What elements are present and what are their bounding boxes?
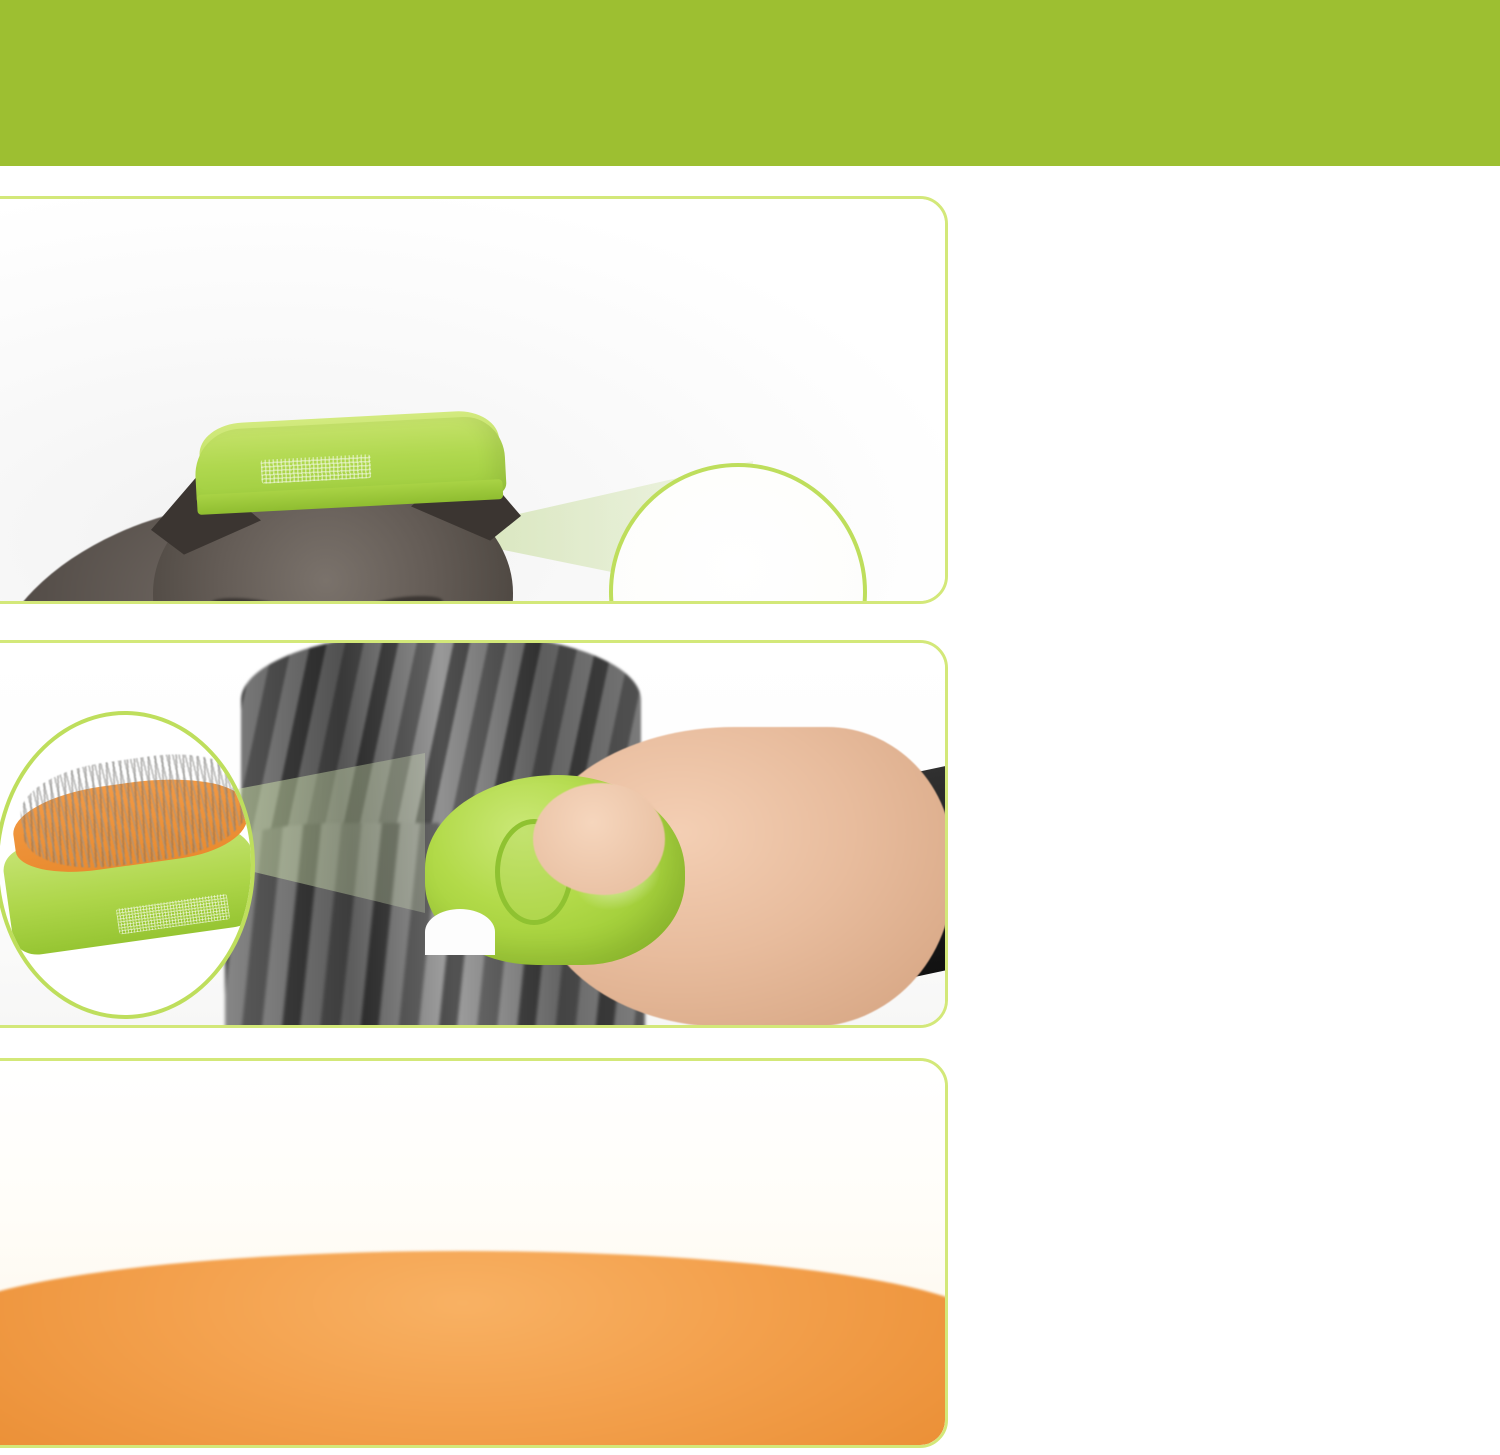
header-banner bbox=[0, 0, 1500, 166]
brush-notch bbox=[425, 909, 495, 955]
feature-panel-3 bbox=[0, 1058, 948, 1448]
brush-orange-pad bbox=[0, 1251, 945, 1445]
panel-1-image bbox=[0, 199, 945, 601]
panel-3-image bbox=[0, 1061, 945, 1445]
feature-panel-1 bbox=[0, 196, 948, 604]
hand-thumb bbox=[533, 783, 665, 895]
feature-panel-2 bbox=[0, 640, 948, 1028]
panel-2-image bbox=[0, 643, 945, 1025]
magnifier-oval-2 bbox=[0, 711, 255, 1019]
